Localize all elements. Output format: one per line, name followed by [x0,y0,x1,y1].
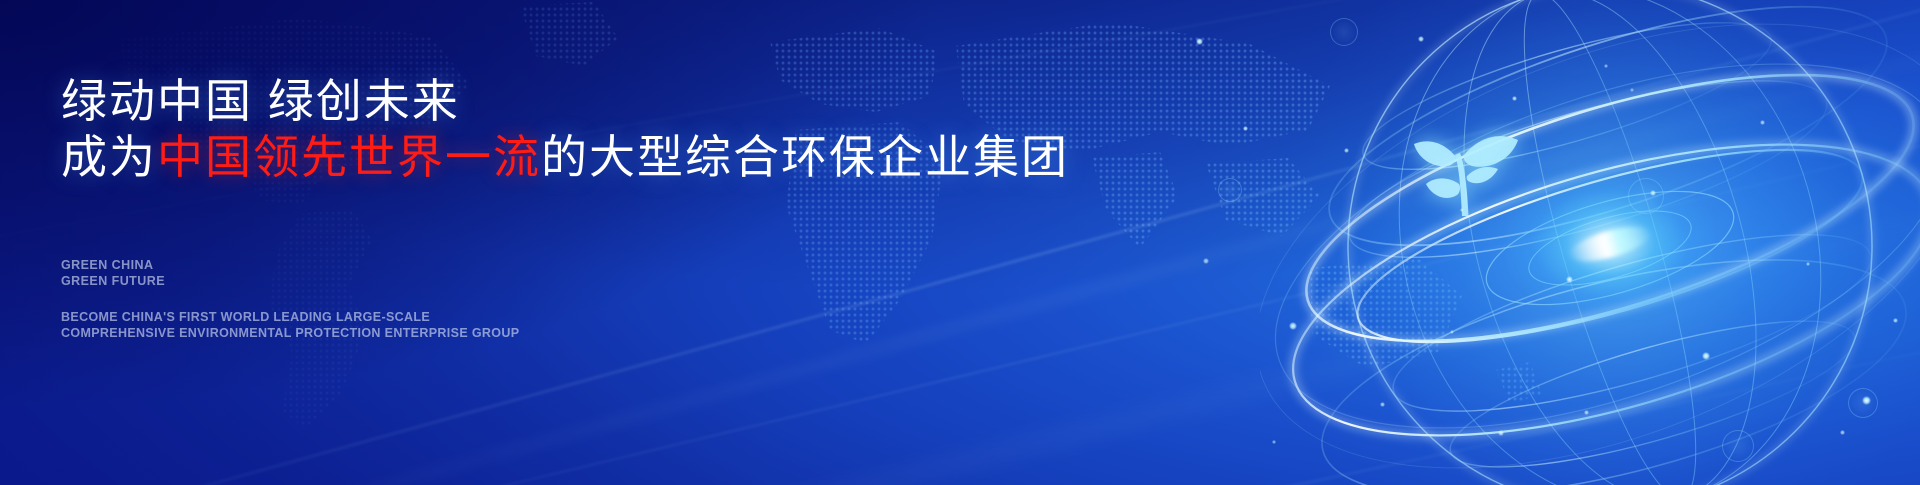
description-line-2: COMPREHENSIVE ENVIRONMENTAL PROTECTION E… [61,326,519,342]
headline-line-2: 成为中国领先世界一流的大型综合环保企业集团 [61,134,1069,180]
headline-line-2-highlight: 中国领先世界一流 [157,131,541,183]
description-english: BECOME CHINA'S FIRST WORLD LEADING LARGE… [61,310,519,341]
hero-banner: 绿动中国 绿创未来 成为中国领先世界一流的大型综合环保企业集团 GREEN CH… [0,0,1920,485]
subtitle-line-2: GREEN FUTURE [61,274,165,290]
subtitle-line-1: GREEN CHINA [61,258,165,274]
description-line-1: BECOME CHINA'S FIRST WORLD LEADING LARGE… [61,310,519,326]
subtitle-english: GREEN CHINA GREEN FUTURE [61,258,165,289]
headline-line-2-prefix: 成为 [61,131,157,183]
headline-line-1: 绿动中国 绿创未来 [61,78,460,124]
copy-block: 绿动中国 绿创未来 成为中国领先世界一流的大型综合环保企业集团 GREEN CH… [61,0,1161,485]
headline-line-2-suffix: 的大型综合环保企业集团 [541,131,1069,183]
